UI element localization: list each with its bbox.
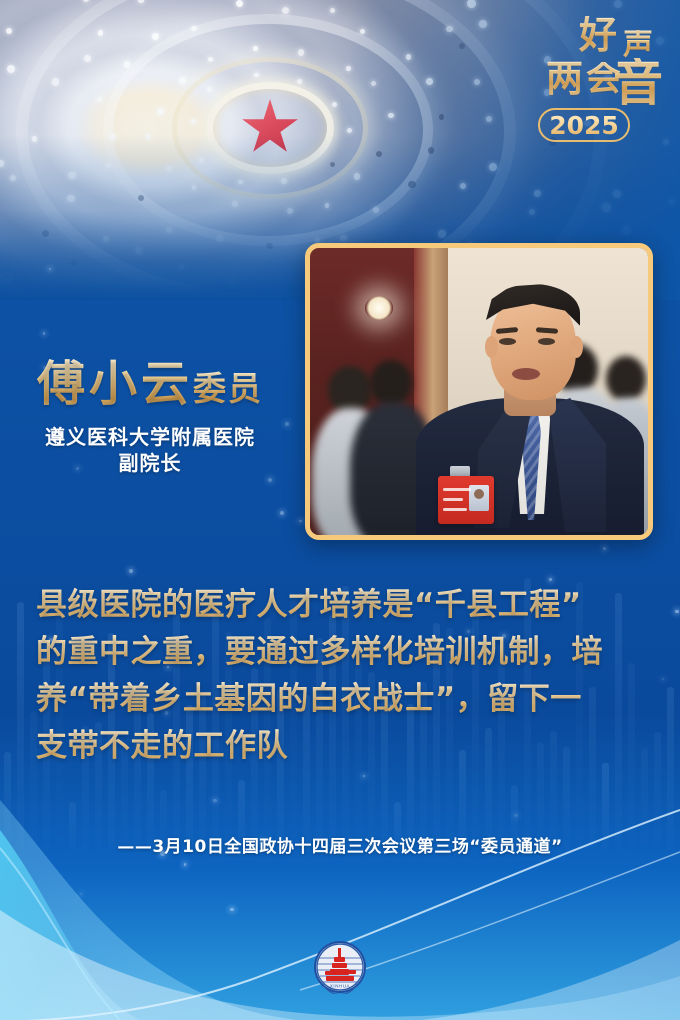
credential-badge [438, 476, 494, 524]
subject-mouth [512, 368, 540, 380]
person-name-row: 傅小云委员 [0, 360, 300, 408]
quote-line: 的重中之重，要通过多样化培训机制，培 [36, 629, 644, 676]
portrait-photo [310, 248, 648, 535]
quote-block: 县级医院的医疗人才培养是“千县工程” 的重中之重，要通过多样化培训机制，培 养“… [36, 582, 644, 770]
photo-lamp [365, 296, 393, 320]
credential-line [443, 488, 471, 491]
person-title: 委员 [193, 369, 263, 408]
sparkle-particle [268, 478, 273, 483]
photo-bystander-head [328, 366, 372, 414]
logo-char-yin: 音 [613, 58, 662, 108]
quote-line: 养“带着乡土基因的白衣战士”，留下一 [36, 676, 644, 723]
subject-eye-left [499, 338, 516, 345]
sparkle-particle [280, 511, 284, 515]
photo-bystander-head [370, 360, 412, 406]
poster-root: 好 声 两 会 音 2025 [0, 0, 680, 1020]
subject-eye-right [538, 338, 555, 345]
subject-ear-right [570, 336, 583, 358]
person-name-block: 傅小云委员 遵义医科大学附属医院 副院长 [0, 360, 300, 476]
person-name: 傅小云 [37, 356, 193, 412]
quote-line: 支带不走的工作队 [36, 723, 644, 770]
quote-attribution: ——3月10日全国政协十四届三次会议第三场“委员通道” [0, 832, 680, 857]
sparkle-particle [49, 268, 51, 270]
logo-char-hao: 好 [579, 16, 616, 54]
logo-year-badge: 2025 [538, 108, 630, 142]
credential-photo [469, 485, 489, 511]
portrait-photo-frame [305, 243, 653, 540]
sparkle-particle [43, 332, 46, 335]
affiliation-line-1: 遵义医科大学附属医院 [0, 424, 300, 450]
sparkle-particle [675, 610, 678, 613]
affiliation-line-2: 副院长 [0, 450, 300, 476]
svg-text:XINHUA: XINHUA [330, 984, 350, 989]
sparkle-particle [662, 678, 664, 680]
sparkle-particle [129, 569, 133, 573]
xinhua-news-agency-logo: XINHUA [313, 940, 367, 994]
credential-line [443, 508, 467, 511]
quote-line: 县级医院的医疗人才培养是“千县工程” [36, 582, 644, 629]
credential-line [443, 498, 463, 501]
person-affiliation: 遵义医科大学附属医院 副院长 [0, 424, 300, 476]
subject-ear-left [485, 336, 498, 358]
program-logo: 好 声 两 会 音 2025 [536, 14, 666, 154]
logo-char-liang: 两 [546, 60, 582, 97]
logo-year-text: 2025 [549, 111, 619, 140]
